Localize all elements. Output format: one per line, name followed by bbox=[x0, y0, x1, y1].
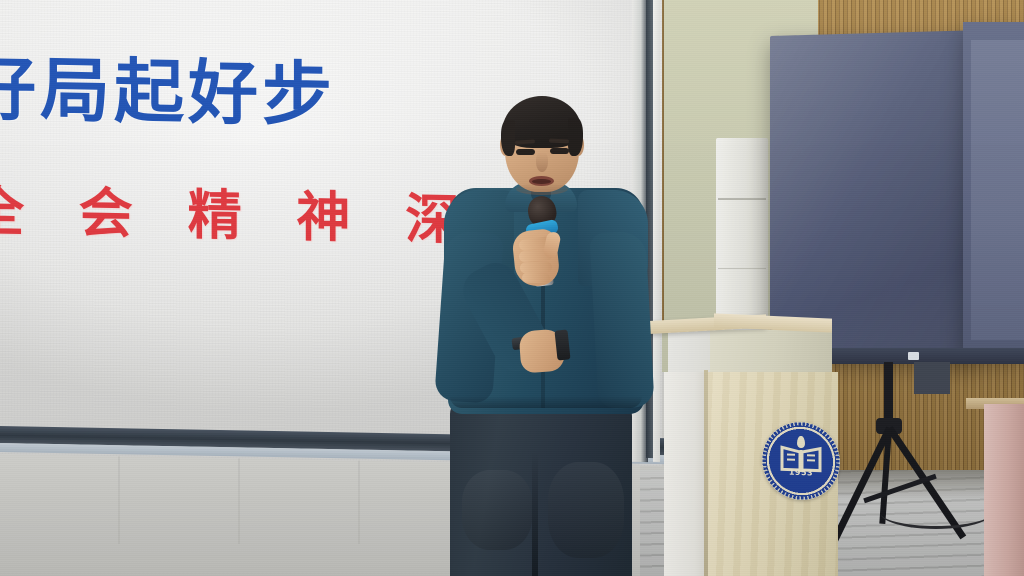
presenter-chin-shadow bbox=[516, 183, 568, 195]
presenter-eye-right bbox=[550, 148, 569, 154]
trouser-fold-right bbox=[548, 462, 624, 558]
presenter-hair-side-left bbox=[501, 120, 515, 156]
presenter-arm-left bbox=[589, 231, 654, 410]
presenter-nose bbox=[536, 152, 548, 172]
photo-scene: 好局起好步 全 会 精 神 深 讠 1953 bbox=[0, 0, 1024, 576]
hand-right-finger-4 bbox=[522, 273, 550, 284]
trouser-inseam bbox=[532, 452, 538, 576]
presenter-hair-side-right bbox=[568, 118, 583, 156]
presenter-eye-left bbox=[516, 149, 535, 155]
jacket-hem bbox=[450, 396, 642, 408]
trouser-fold-left bbox=[462, 470, 532, 550]
hand-right-finger-3 bbox=[520, 261, 552, 273]
presenter bbox=[0, 0, 1024, 576]
